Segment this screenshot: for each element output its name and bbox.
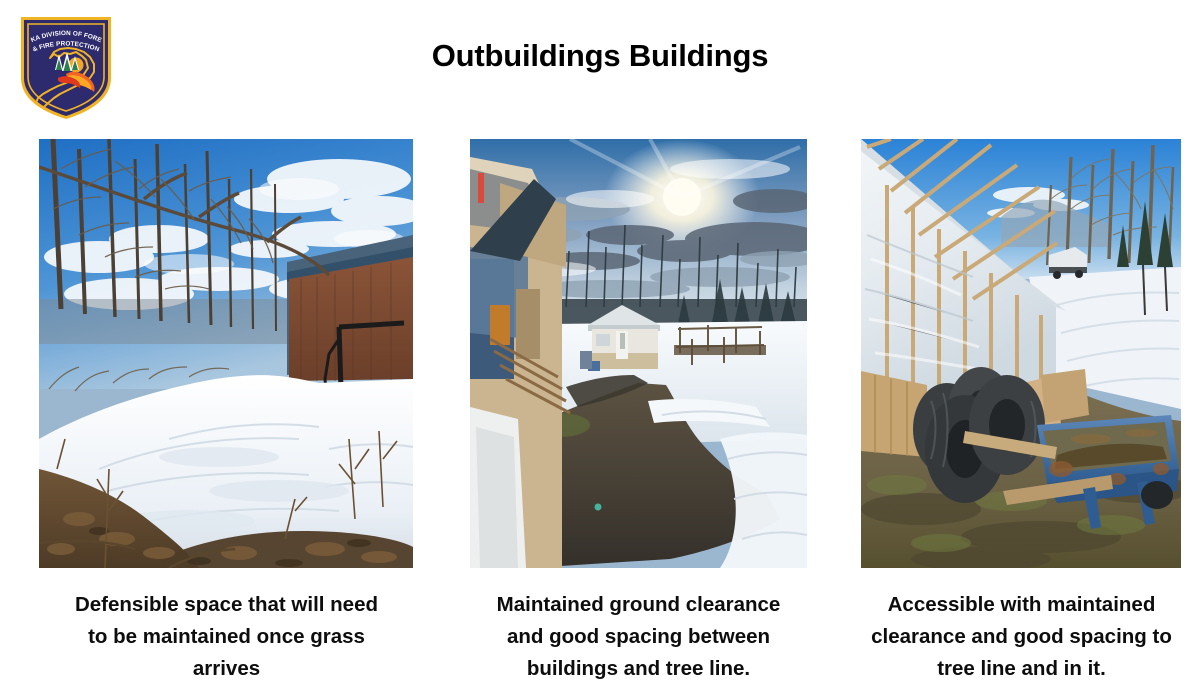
photo-ground-clearance-shed — [470, 139, 807, 568]
page-title: Outbuildings Buildings — [0, 38, 1200, 74]
caption-defensible-space: Defensible space that will need to be ma… — [34, 589, 419, 685]
caption-3-line-2: clearance and good spacing to — [855, 621, 1188, 653]
caption-2-line-1: Maintained ground clearance — [460, 589, 817, 621]
photo-1-image — [39, 139, 413, 568]
caption-accessible-clearance: Accessible with maintained clearance and… — [855, 589, 1188, 685]
caption-1-line-1: Defensible space that will need — [34, 589, 419, 621]
photo-2-image — [470, 139, 807, 568]
photo-accessible-clearance-greenhouse — [861, 139, 1181, 568]
caption-2-line-2: and good spacing between — [460, 621, 817, 653]
caption-3-line-3: tree line and in it. — [855, 653, 1188, 685]
photo-defensible-space-shed — [39, 139, 413, 568]
caption-ground-clearance: Maintained ground clearance and good spa… — [460, 589, 817, 685]
caption-1-line-3: arrives — [34, 653, 419, 685]
caption-2-line-3: buildings and tree line. — [460, 653, 817, 685]
building-edge-left — [470, 157, 570, 568]
photo-3-image — [861, 139, 1181, 568]
caption-1-line-2: to be maintained once grass — [34, 621, 419, 653]
caption-3-line-1: Accessible with maintained — [855, 589, 1188, 621]
lens-flare — [595, 504, 602, 511]
